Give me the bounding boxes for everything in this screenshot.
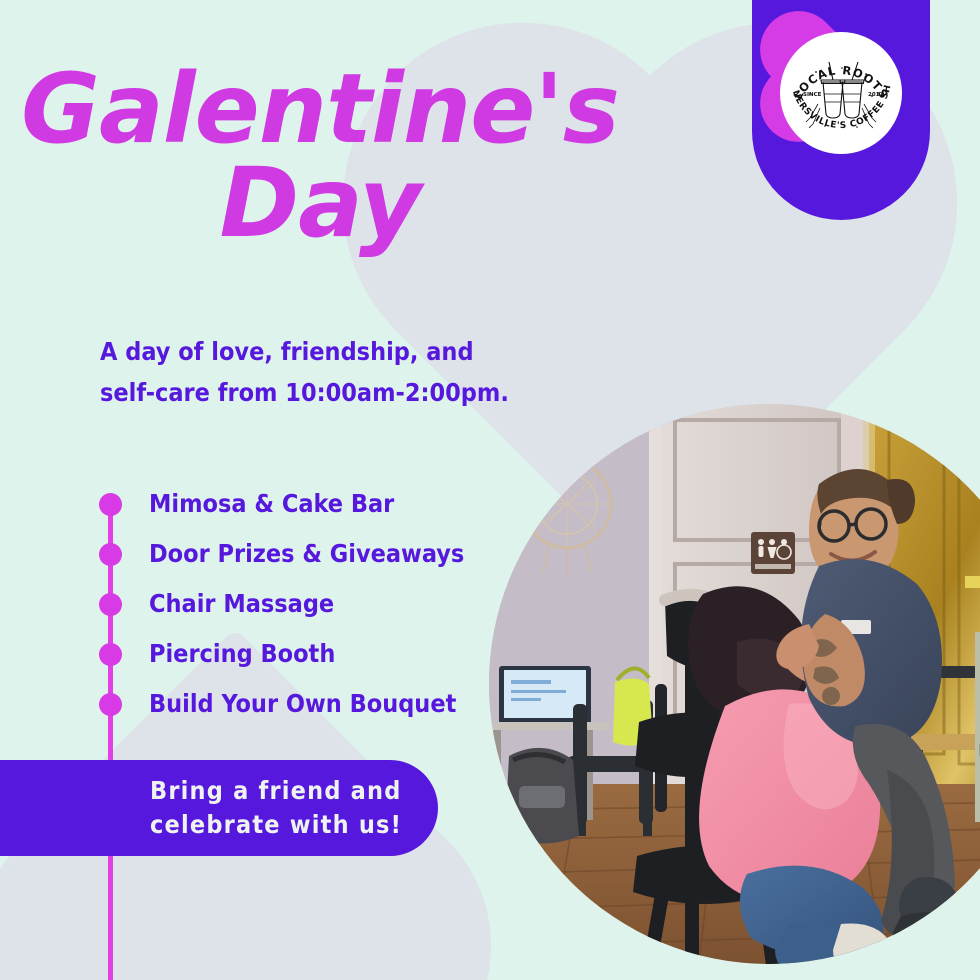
subtitle-line-2: self-care from 10:00am-2:00pm. bbox=[100, 373, 570, 414]
list-item: Build Your Own Bouquet bbox=[95, 678, 515, 728]
activity-label: Build Your Own Bouquet bbox=[149, 689, 456, 718]
list-item: Chair Massage bbox=[95, 578, 515, 628]
logo-year-text: 2017 bbox=[868, 92, 883, 98]
activity-label: Piercing Booth bbox=[149, 639, 335, 668]
subtitle-line-1: A day of love, friendship, and bbox=[100, 332, 570, 373]
bullet-dot-icon bbox=[99, 693, 122, 716]
poster-canvas: LOCAL ROOTS KERNERSVILLE'S COFFEE SHOP S… bbox=[0, 0, 980, 980]
list-item: Mimosa & Cake Bar bbox=[95, 478, 515, 528]
title-line-2: Day bbox=[0, 156, 640, 250]
page-title: Galentine's Day bbox=[0, 62, 640, 250]
activities-list: Mimosa & Cake Bar Door Prizes & Giveaway… bbox=[95, 478, 515, 728]
list-item: Door Prizes & Giveaways bbox=[95, 528, 515, 578]
cta-line-1: Bring a friend and bbox=[150, 774, 402, 808]
coffee-cups-logo-icon: LOCAL ROOTS KERNERSVILLE'S COFFEE SHOP S… bbox=[780, 32, 902, 154]
cta-banner: Bring a friend and celebrate with us! bbox=[0, 760, 438, 856]
activity-label: Chair Massage bbox=[149, 589, 334, 618]
list-item: Piercing Booth bbox=[95, 628, 515, 678]
activity-label: Door Prizes & Giveaways bbox=[149, 539, 464, 568]
brand-logo-badge: LOCAL ROOTS KERNERSVILLE'S COFFEE SHOP S… bbox=[752, 0, 930, 220]
subtitle: A day of love, friendship, and self-care… bbox=[100, 332, 570, 413]
bullet-dot-icon bbox=[99, 643, 122, 666]
cta-text: Bring a friend and celebrate with us! bbox=[150, 774, 402, 842]
bullet-dot-icon bbox=[99, 593, 122, 616]
bullet-dot-icon bbox=[99, 543, 122, 566]
activity-label: Mimosa & Cake Bar bbox=[149, 489, 394, 518]
bullet-dot-icon bbox=[99, 493, 122, 516]
cta-line-2: celebrate with us! bbox=[150, 808, 402, 842]
logo-since-text: SINCE bbox=[803, 92, 822, 98]
logo-disc: LOCAL ROOTS KERNERSVILLE'S COFFEE SHOP S… bbox=[780, 32, 902, 154]
